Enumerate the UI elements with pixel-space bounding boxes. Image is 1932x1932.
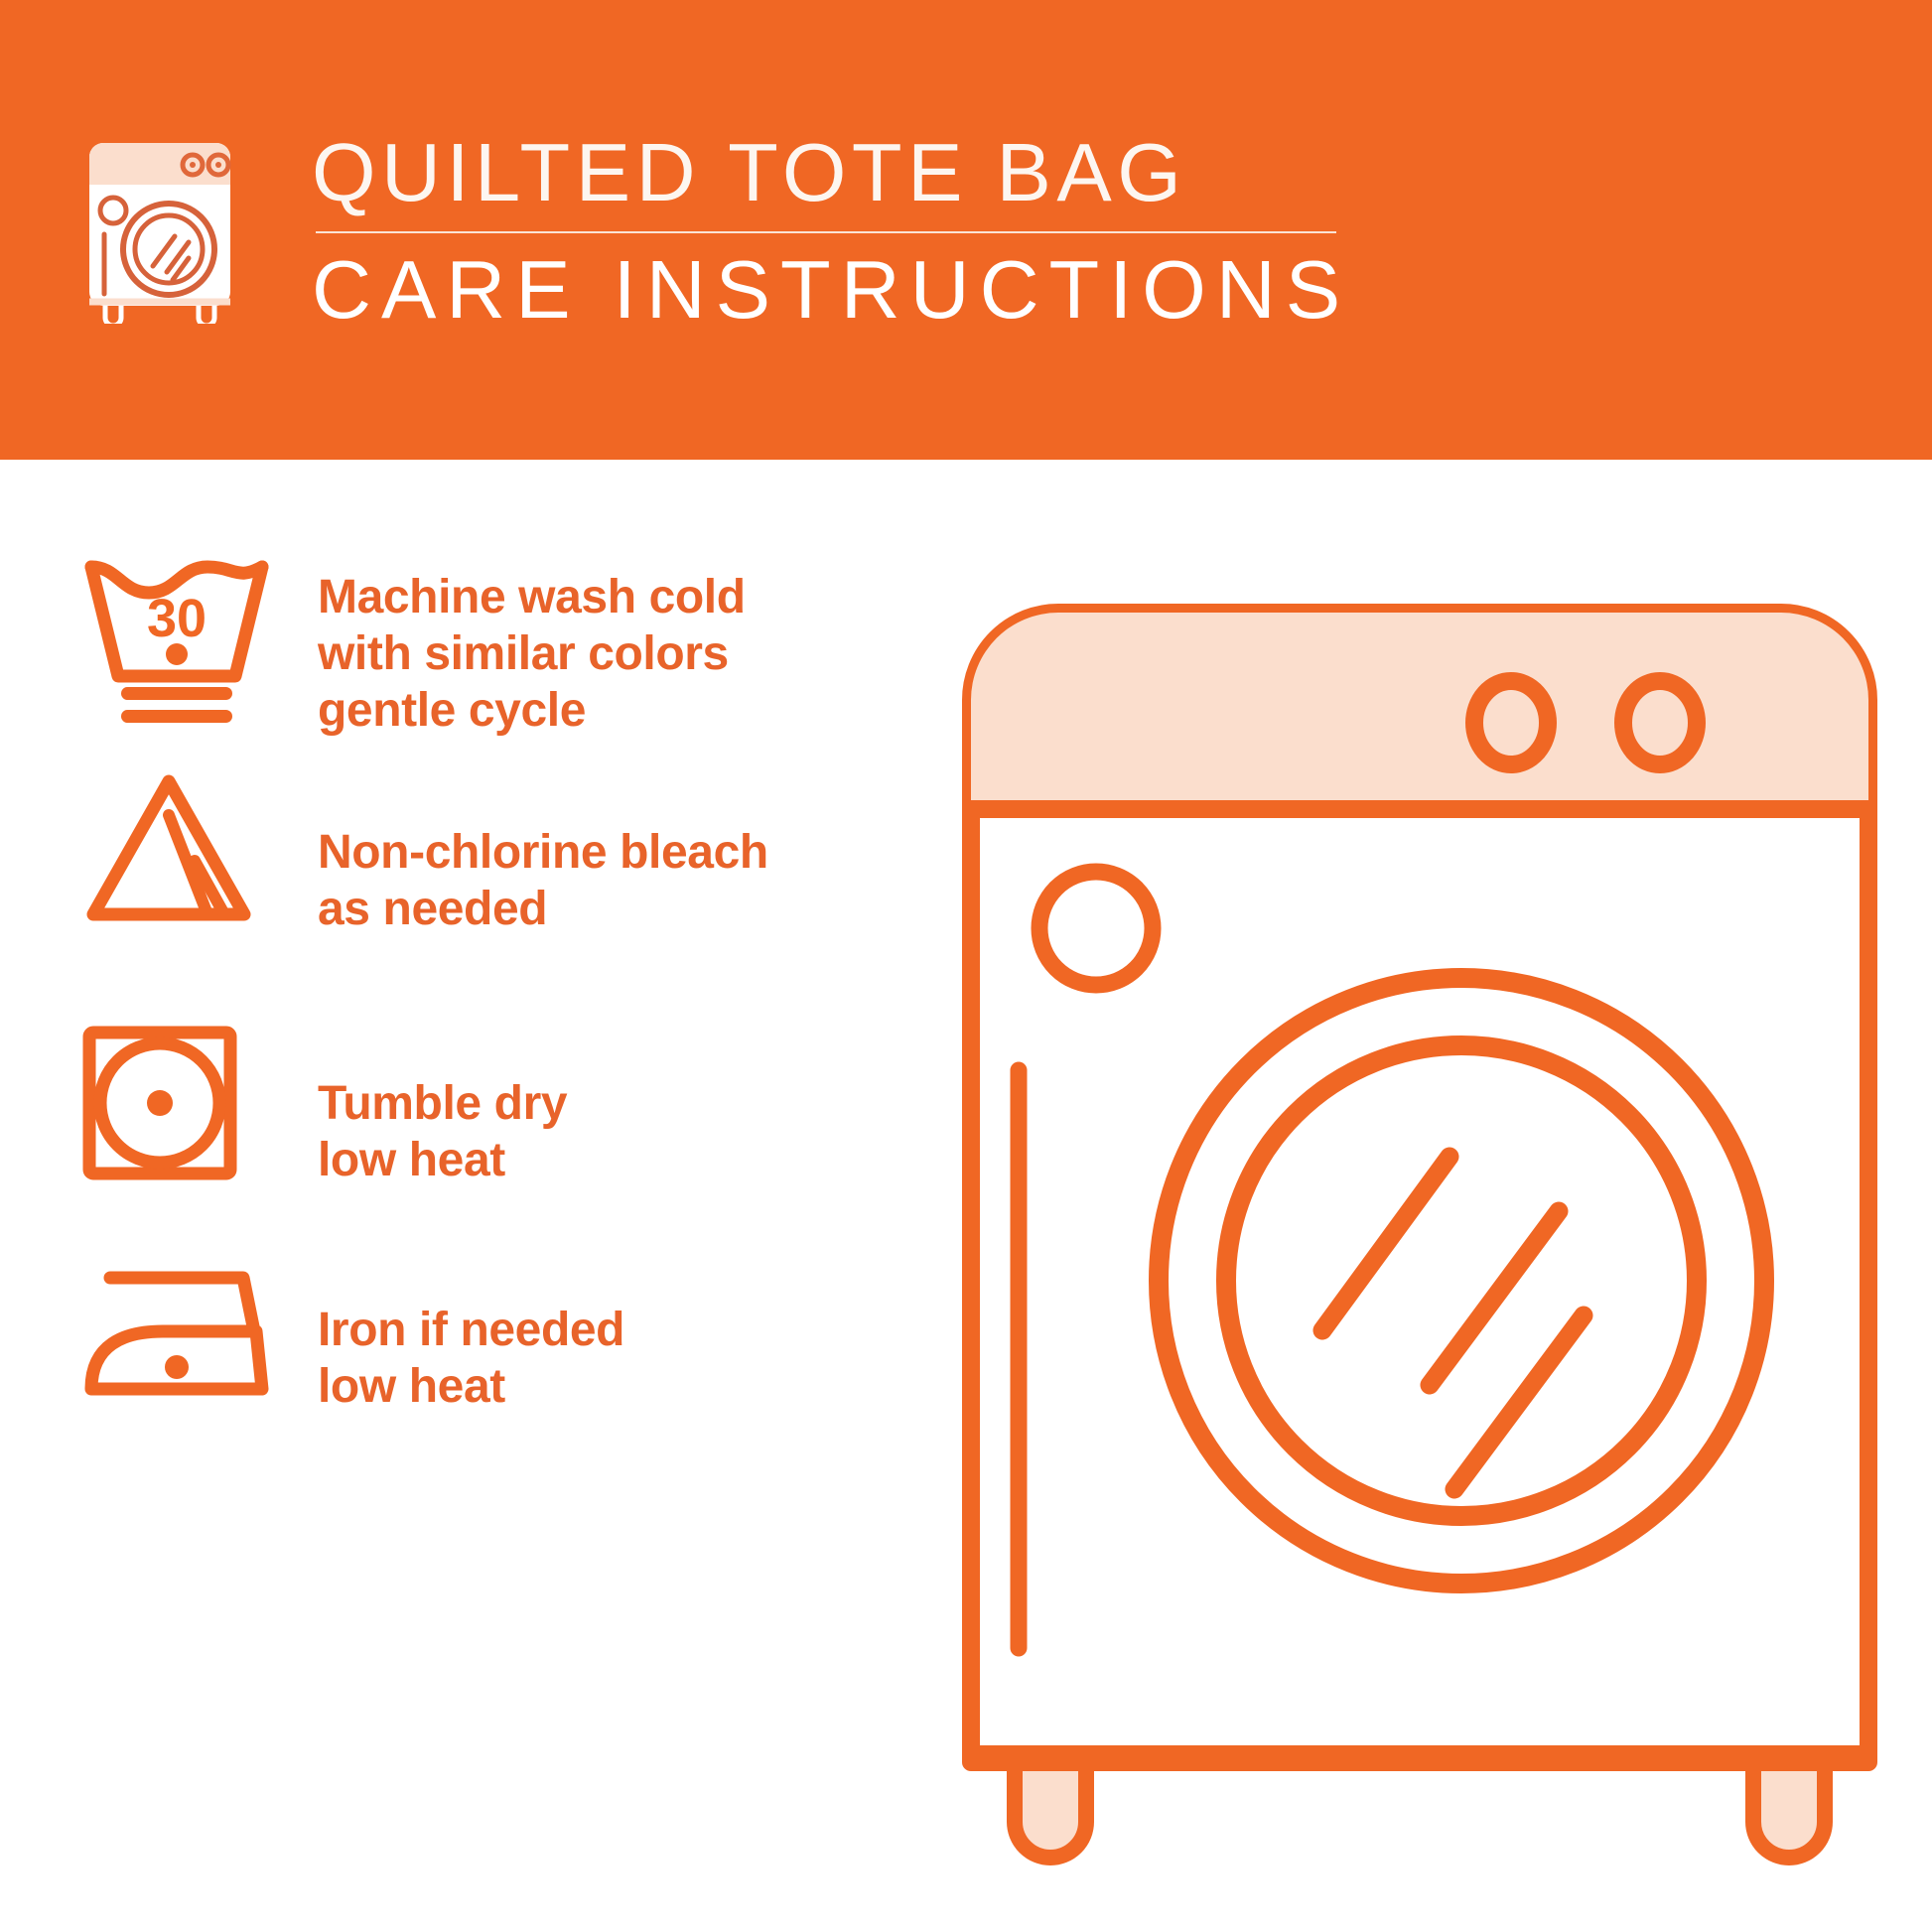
care-row-tumble-dry: Tumble dry low heat [77,1021,567,1199]
care-label-iron: Iron if needed low heat [318,1302,624,1415]
non-chlorine-bleach-triangle-icon [77,769,276,928]
page-subtitle: CARE INSTRUCTIONS [312,242,1344,338]
care-row-wash: 30 Machine wash cold with similar colors… [77,551,746,739]
care-instruction-list: 30 Machine wash cold with similar colors… [0,460,923,1932]
wash-symbol-wrapper: 30 [77,551,286,730]
wash-tub-30-gentle-icon: 30 [77,551,276,730]
iron-symbol-wrapper [77,1254,286,1423]
tumble-dry-symbol-wrapper [77,1021,286,1199]
bleach-symbol-wrapper [77,769,286,928]
washing-machine-illustration [953,596,1886,1886]
page-title: QUILTED TOTE BAG [312,125,1344,220]
wash-temperature-label: 30 [147,589,207,648]
washing-machine-icon [77,135,242,324]
care-row-iron: Iron if needed low heat [77,1254,624,1423]
care-row-bleach: Non-chlorine bleach as needed [77,769,768,937]
tumble-dry-low-heat-icon [77,1021,256,1199]
header-title-group: QUILTED TOTE BAG CARE INSTRUCTIONS [312,125,1344,338]
care-label-tumble-dry: Tumble dry low heat [318,1075,567,1188]
header-banner: QUILTED TOTE BAG CARE INSTRUCTIONS [0,0,1932,460]
care-label-bleach: Non-chlorine bleach as needed [318,824,768,937]
care-label-wash: Machine wash cold with similar colors ge… [318,569,746,739]
header-content: QUILTED TOTE BAG CARE INSTRUCTIONS [77,125,1344,338]
title-divider [316,231,1336,233]
iron-low-heat-icon [77,1254,276,1423]
